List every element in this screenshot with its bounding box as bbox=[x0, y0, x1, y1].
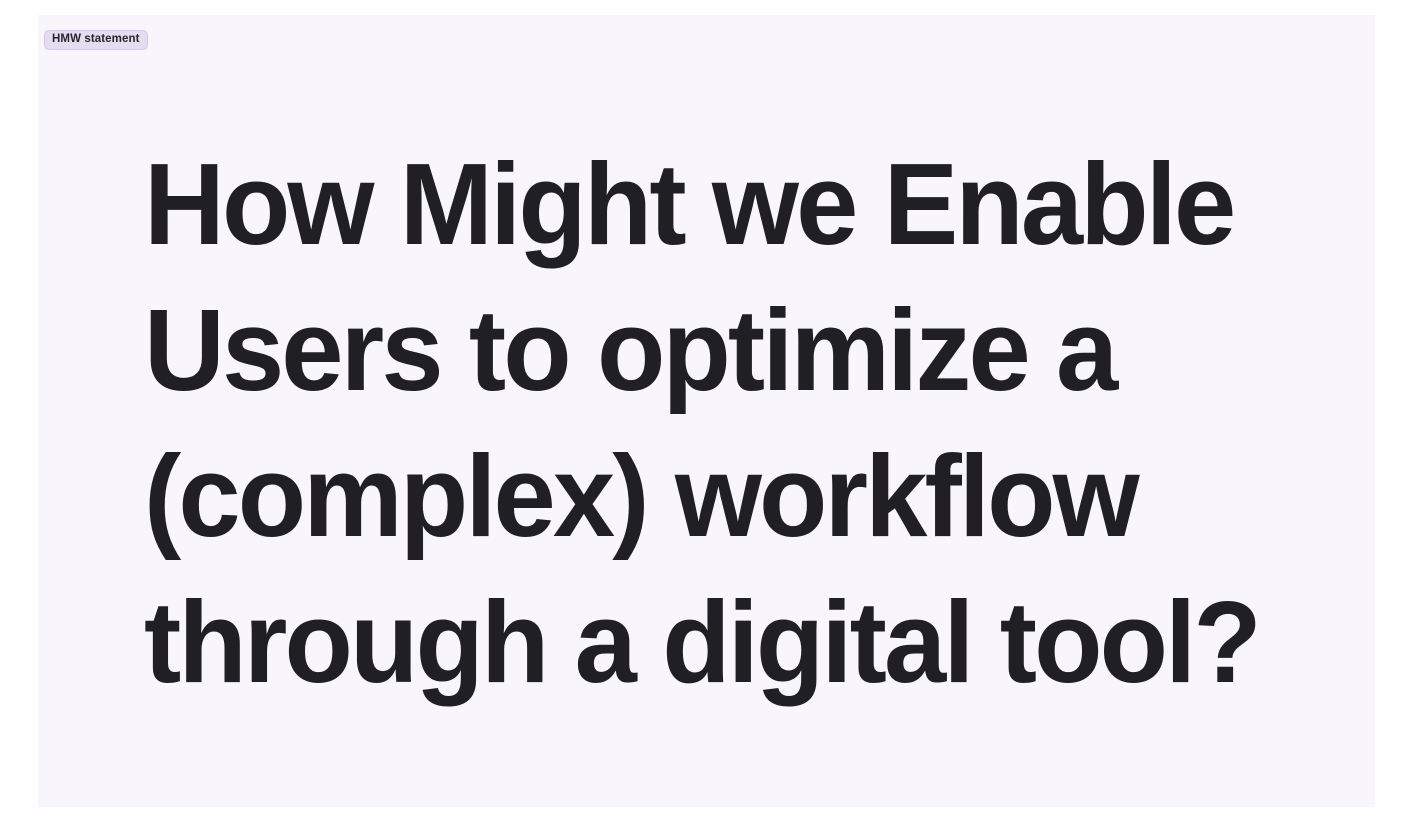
slide-canvas: HMW statement How Might we Enable Users … bbox=[38, 15, 1375, 807]
page-title: How Might we Enable Users to optimize a … bbox=[144, 131, 1167, 715]
status-badge: HMW statement bbox=[44, 30, 148, 50]
heading-line-4: through a digital tool? bbox=[144, 569, 1167, 715]
heading-line-3: (complex) workflow bbox=[144, 423, 1167, 569]
heading-line-1: How Might we Enable bbox=[144, 131, 1167, 277]
heading-line-2: Users to optimize a bbox=[144, 277, 1167, 423]
